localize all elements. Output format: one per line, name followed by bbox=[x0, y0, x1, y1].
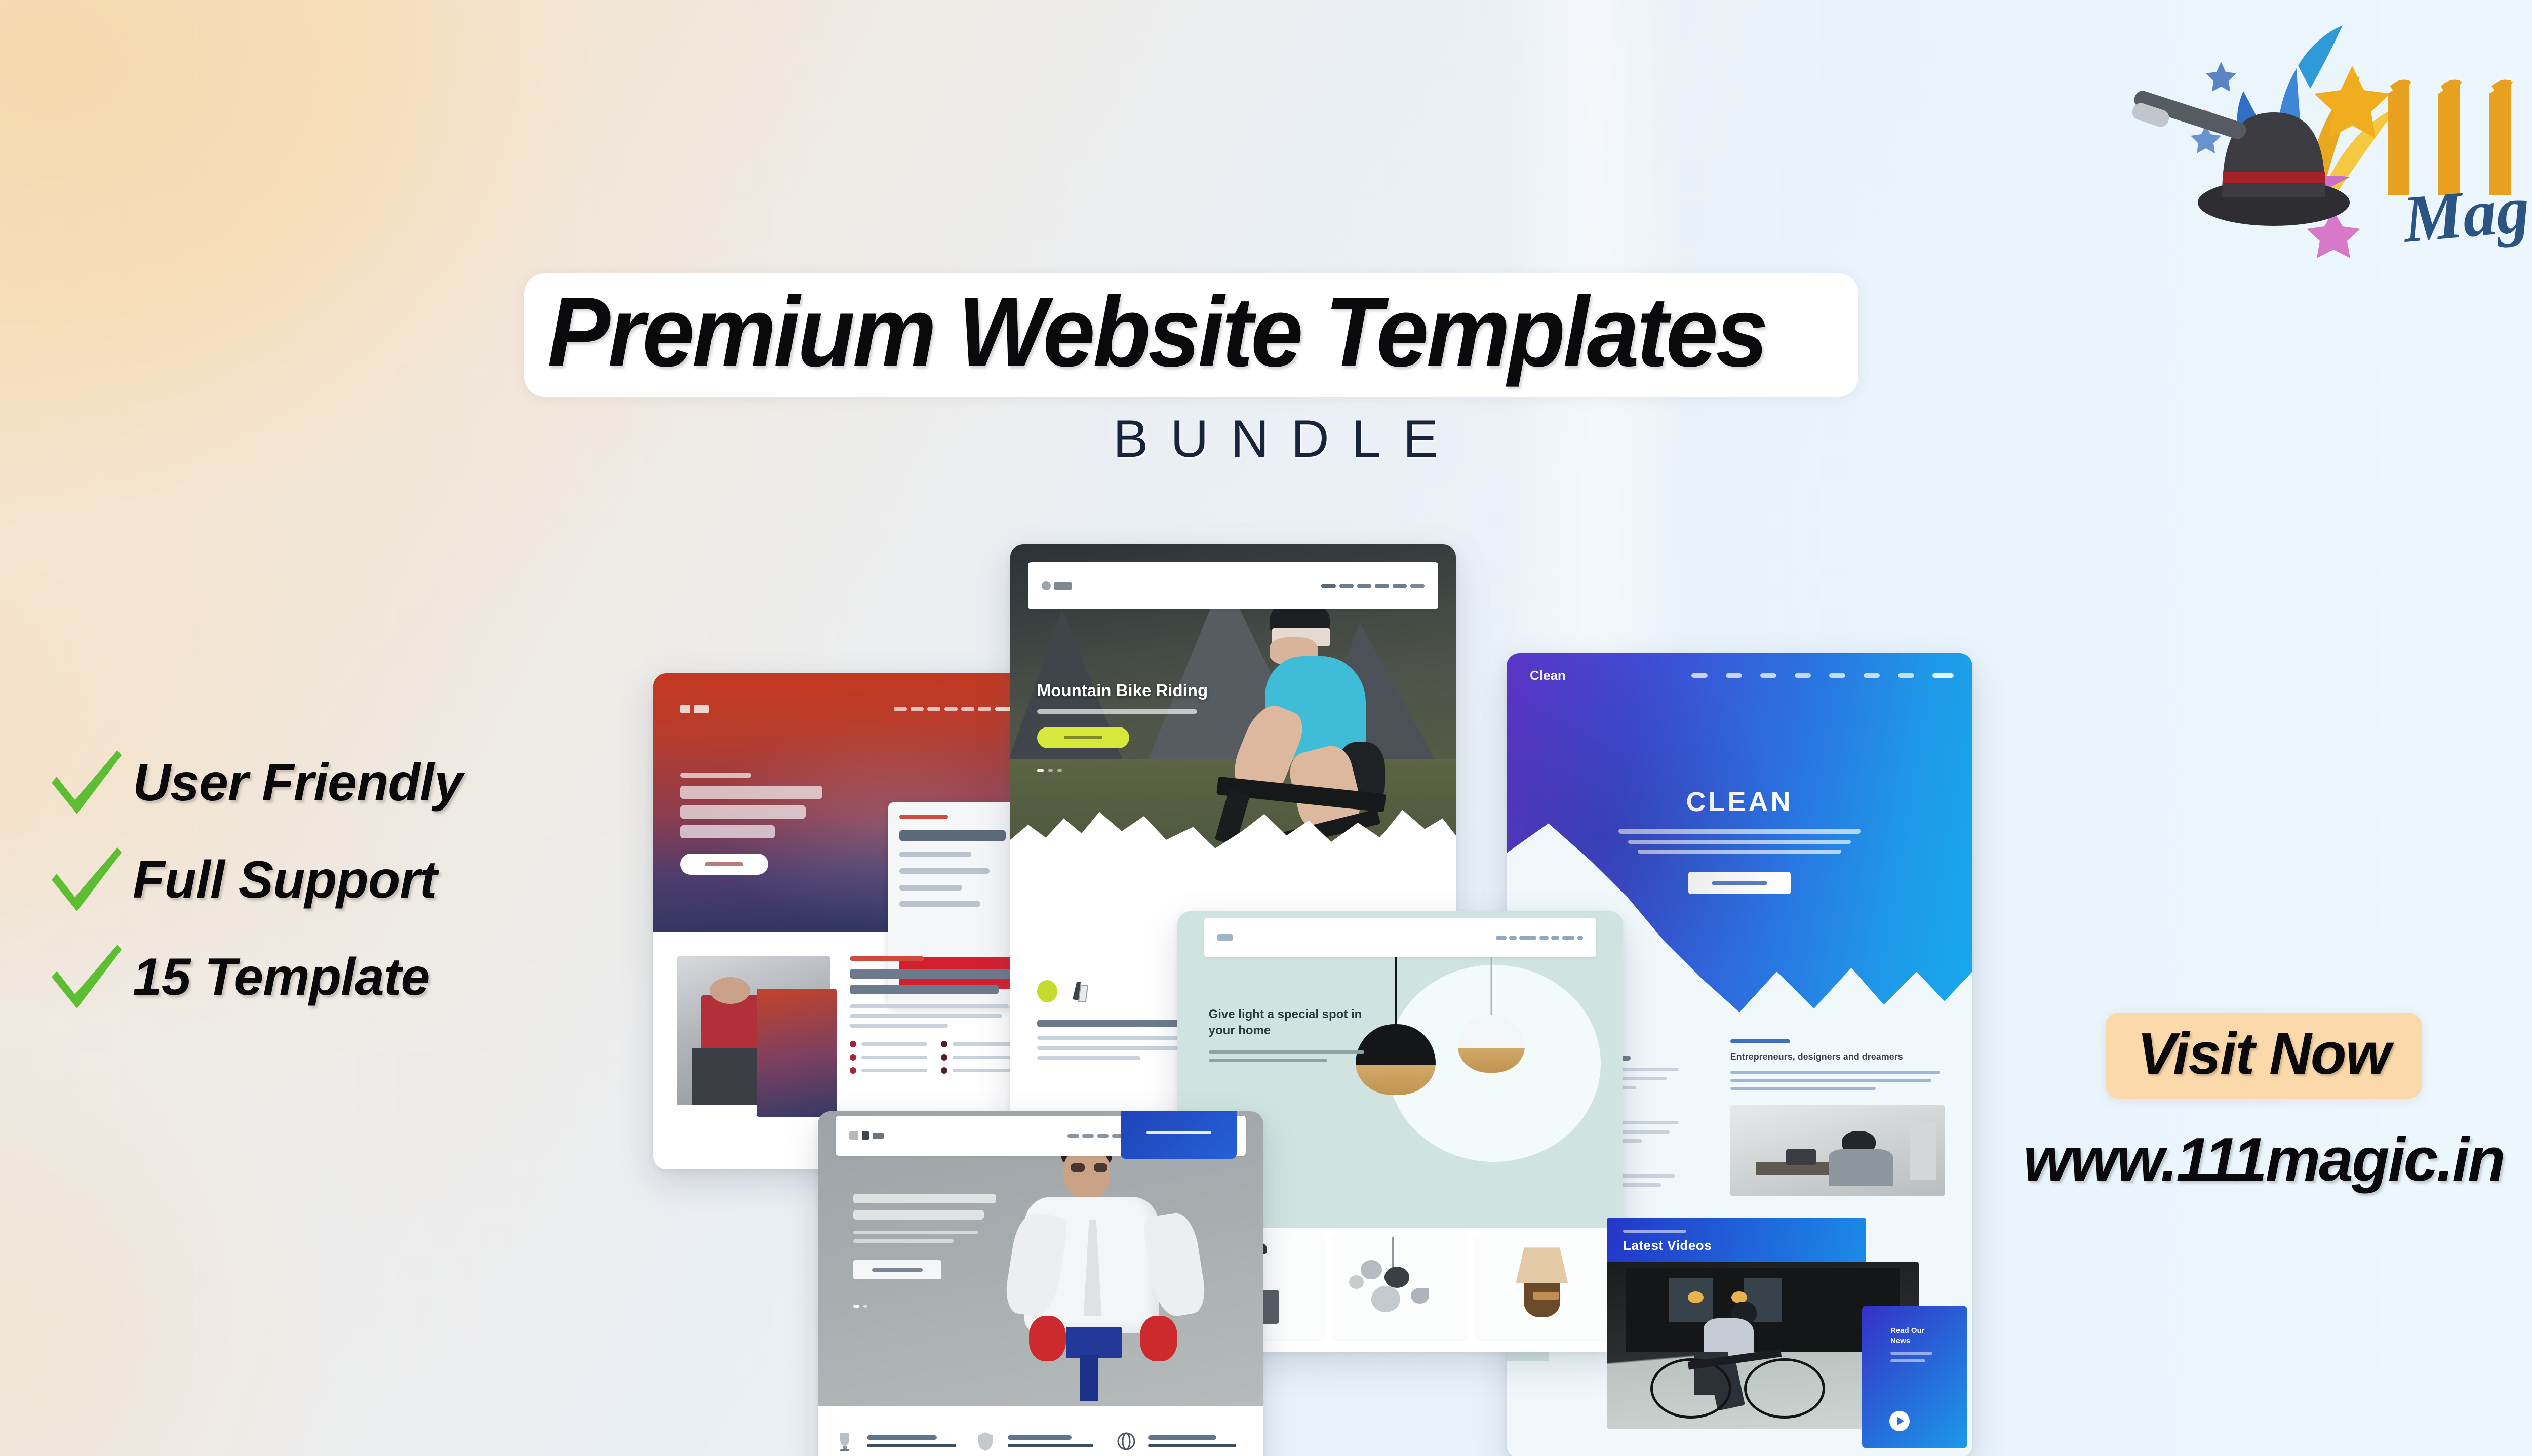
template-card-automotive[interactable] bbox=[653, 673, 1038, 1169]
111magic-logo[interactable]: Magic bbox=[2122, 5, 2532, 258]
list-item bbox=[836, 1418, 964, 1456]
latest-videos-label: Latest Videos bbox=[1623, 1238, 1850, 1253]
mock-navbar[interactable] bbox=[668, 689, 1022, 729]
latest-videos-section[interactable]: Latest Videos Read Our News bbox=[1562, 1212, 1967, 1456]
bike-heading: Mountain Bike Riding bbox=[1037, 680, 1242, 701]
website-url[interactable]: www.111magic.in bbox=[1965, 1124, 2532, 1195]
nav-links[interactable] bbox=[1496, 936, 1583, 940]
latest-videos-banner[interactable]: Latest Videos bbox=[1607, 1218, 1866, 1264]
clean-logo[interactable]: Clean bbox=[1530, 668, 1566, 683]
list-item bbox=[976, 1418, 1105, 1456]
mock-navbar[interactable] bbox=[1204, 918, 1596, 957]
lighting-hero-copy: Give light a special spot in your home bbox=[1209, 1006, 1378, 1062]
karate-hero-copy bbox=[853, 1194, 1005, 1308]
automotive-hero-copy bbox=[680, 773, 849, 875]
bike-hero-copy: Mountain Bike Riding bbox=[1037, 680, 1242, 772]
nav-links[interactable] bbox=[894, 707, 1011, 711]
cta-group: Visit Now www.111magic.in bbox=[1965, 1013, 2532, 1195]
clean-content-photo bbox=[1730, 1105, 1945, 1196]
karate-cta-button[interactable] bbox=[853, 1260, 941, 1279]
clean-right-column: Entrepreneurs, designers and dreamers bbox=[1730, 1039, 1945, 1196]
bike-cta-button[interactable] bbox=[1037, 727, 1129, 748]
feature-label: Full Support bbox=[133, 850, 437, 910]
bike-icon bbox=[1065, 977, 1095, 1005]
nav-logo bbox=[1217, 934, 1233, 941]
karate-carousel-dots[interactable] bbox=[853, 1305, 1005, 1308]
clean-heading: CLEAN bbox=[1507, 786, 1972, 818]
template-card-karate[interactable] bbox=[818, 1111, 1263, 1456]
karate-athlete-photo bbox=[987, 1123, 1219, 1406]
list-item[interactable] bbox=[1335, 1233, 1466, 1339]
list-item: 15 Template bbox=[47, 928, 614, 1026]
nav-logo bbox=[680, 705, 709, 713]
mock-navbar[interactable] bbox=[1028, 562, 1438, 609]
karate-feature-row bbox=[836, 1418, 1246, 1456]
clean-cta-button[interactable] bbox=[1688, 872, 1791, 894]
visit-now-label: Visit Now bbox=[2137, 1020, 2390, 1087]
automotive-photo bbox=[677, 956, 830, 1105]
videos-side-heading: Read Our News bbox=[1890, 1326, 1939, 1346]
nav-links[interactable] bbox=[1321, 584, 1425, 588]
feature-list: User Friendly Full Support 15 Template bbox=[47, 734, 614, 1026]
karate-accent-tab[interactable] bbox=[1121, 1111, 1237, 1159]
nav-logo bbox=[1042, 581, 1072, 590]
check-icon bbox=[47, 846, 123, 913]
title-badge: Premium Website Templates bbox=[524, 273, 1858, 397]
videos-side-card[interactable]: Read Our News bbox=[1862, 1306, 1967, 1448]
shield-icon bbox=[976, 1431, 995, 1452]
trophy-icon bbox=[836, 1431, 854, 1452]
list-item: Full Support bbox=[47, 831, 614, 928]
page-title: Premium Website Templates bbox=[547, 282, 1766, 382]
check-icon bbox=[47, 749, 123, 816]
visit-now-button[interactable]: Visit Now bbox=[2106, 1013, 2422, 1099]
list-item bbox=[1117, 1418, 1246, 1456]
check-icon bbox=[47, 944, 123, 1010]
automotive-feature-text bbox=[850, 956, 1019, 1074]
globe-icon bbox=[1117, 1431, 1135, 1452]
nav-logo bbox=[849, 1131, 884, 1140]
feature-label: 15 Template bbox=[133, 947, 429, 1007]
clean-section-heading: Entrepreneurs, designers and dreamers bbox=[1730, 1050, 1945, 1063]
pendant-lamp-white bbox=[1458, 940, 1525, 1073]
list-item: User Friendly bbox=[47, 734, 614, 831]
page-subtitle: BUNDLE bbox=[524, 409, 2028, 469]
lighting-heading: Give light a special spot in your home bbox=[1209, 1006, 1378, 1038]
nav-links[interactable] bbox=[1691, 673, 1954, 678]
headline-group: Premium Website Templates BUNDLE bbox=[524, 273, 2028, 469]
feature-label: User Friendly bbox=[133, 753, 463, 813]
automotive-cta-button[interactable] bbox=[680, 854, 768, 875]
bike-carousel-dots[interactable] bbox=[1037, 769, 1242, 772]
play-button[interactable] bbox=[1889, 1411, 1910, 1431]
svg-text:Magic: Magic bbox=[2399, 167, 2532, 257]
